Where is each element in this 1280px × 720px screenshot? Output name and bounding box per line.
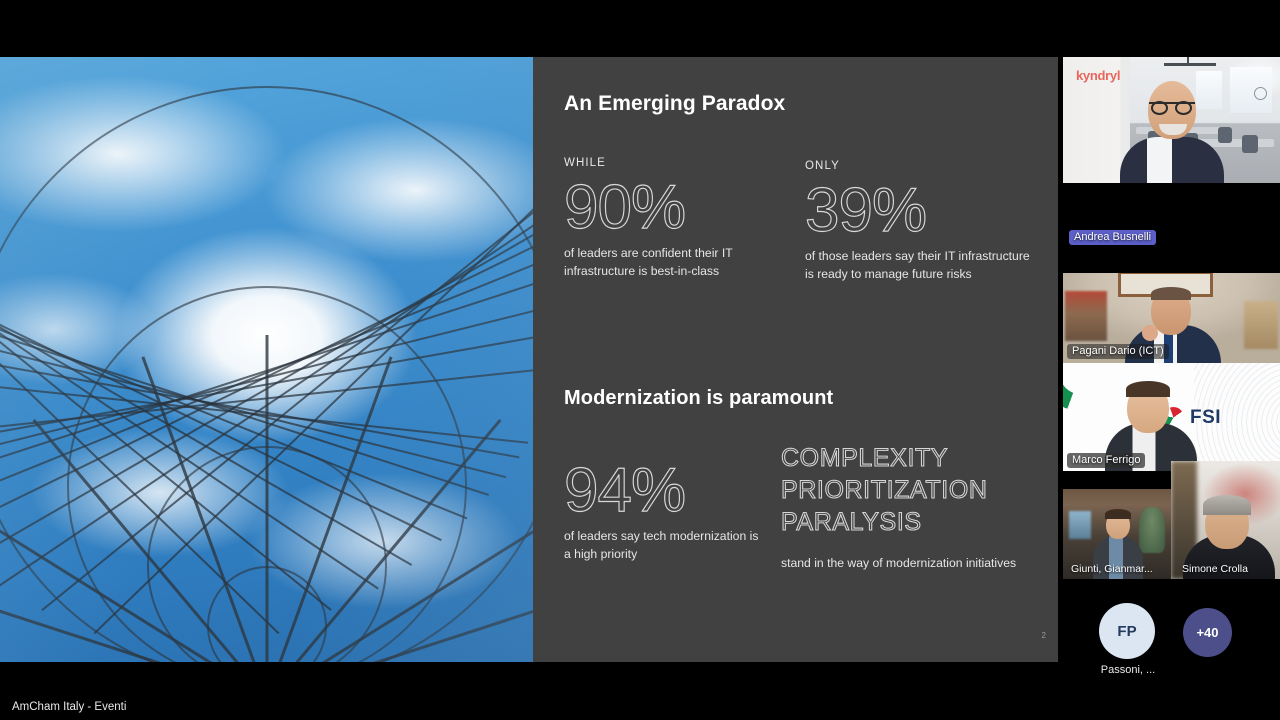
background-plant — [1139, 507, 1165, 553]
avatar-label-passoni: Passoni, ... — [1063, 664, 1193, 676]
stat-value-39: 39% — [805, 179, 1038, 242]
stat-caption-94: of leaders say tech modernization is a h… — [564, 528, 764, 563]
nametag-pagani-dario: Pagani Dario (ICT) — [1067, 344, 1169, 359]
nametag-simone-crolla: Simone Crolla — [1177, 562, 1253, 577]
slide-text-panel: An Emerging Paradox WHILE 90% of leaders… — [533, 57, 1058, 662]
nametag-andrea-busnelli: Andrea Busnelli — [1069, 230, 1156, 245]
avatar-initials-fp: FP — [1117, 623, 1136, 640]
video-tile-marco-ferrigo[interactable]: FSI Marco Ferrigo — [1063, 363, 1280, 471]
video-tile-simone-crolla[interactable]: Simone Crolla — [1171, 461, 1280, 579]
stat-block-94: 94% of leaders say tech modernization is… — [564, 452, 764, 564]
video-tile-andrea-busnelli[interactable]: kyndryl Andrea Busnelli — [1063, 57, 1280, 273]
video-letterbox-black — [1063, 183, 1280, 273]
video-tile-pagani-dario[interactable]: Pagani Dario (ICT) — [1063, 273, 1280, 363]
background-shelf-right — [1244, 301, 1278, 349]
kyndryl-logo: kyndryl — [1076, 68, 1120, 83]
stat-value-94: 94% — [564, 459, 764, 522]
meeting-screen: An Emerging Paradox WHILE 90% of leaders… — [0, 0, 1280, 720]
fsi-backdrop-logo — [1063, 363, 1117, 411]
video-tile-giunti-gianmarco[interactable]: Giunti, Gianmar... — [1063, 471, 1171, 579]
nametag-giunti-gianmarco: Giunti, Gianmar... — [1066, 562, 1158, 577]
participant-avatar-row: FP Passoni, ... +40 — [1063, 579, 1280, 720]
stat-block-90: WHILE 90% of leaders are confident their… — [564, 157, 779, 281]
background-bookshelf — [1065, 291, 1107, 341]
barriers-word-block: COMPLEXITY PRIORITIZATION PARALYSIS stan… — [781, 442, 1031, 573]
participant-video-rail: kyndryl Andrea Busnelli — [1063, 57, 1280, 720]
stat-caption-90: of leaders are confident their IT infras… — [564, 245, 779, 280]
stat-block-39: ONLY 39% of those leaders say their IT i… — [805, 160, 1038, 284]
nametag-marco-ferrigo: Marco Ferrigo — [1067, 453, 1145, 468]
slide-heading-paradox: An Emerging Paradox — [564, 92, 785, 116]
slide-photo-skyscraper — [0, 57, 533, 662]
stat-kicker-only: ONLY — [805, 160, 1038, 172]
barrier-word-complexity: COMPLEXITY — [781, 442, 1031, 474]
barriers-caption: stand in the way of modernization initia… — [781, 555, 1031, 573]
stat-value-90: 90% — [564, 176, 779, 239]
background-window — [1069, 511, 1091, 539]
avatar-overflow-count[interactable]: +40 — [1183, 608, 1232, 657]
meeting-footer-label: AmCham Italy - Eventi — [12, 701, 126, 713]
overflow-count-label: +40 — [1196, 625, 1218, 640]
fsi-logo-text: FSI — [1190, 407, 1221, 429]
wall-clock-icon — [1254, 87, 1267, 100]
barrier-word-prioritization: PRIORITIZATION — [781, 474, 1031, 506]
slide-page-number: 2 — [1042, 631, 1046, 640]
shared-screen-slide[interactable]: An Emerging Paradox WHILE 90% of leaders… — [0, 57, 1058, 662]
stat-kicker-while: WHILE — [564, 157, 779, 169]
stat-caption-39: of those leaders say their IT infrastruc… — [805, 248, 1038, 283]
video-feed-andrea-busnelli: kyndryl — [1063, 57, 1280, 183]
barrier-word-paralysis: PARALYSIS — [781, 506, 1031, 538]
slide-heading-modernization: Modernization is paramount — [564, 387, 833, 410]
avatar-passoni[interactable]: FP — [1099, 603, 1155, 659]
